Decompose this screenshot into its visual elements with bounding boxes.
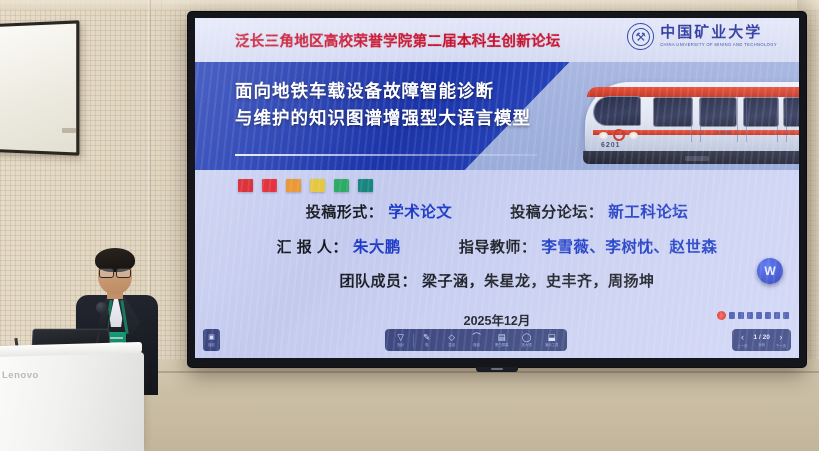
glasses-icon bbox=[99, 268, 131, 276]
submission-type-value: 学术论文 bbox=[388, 200, 452, 222]
university-logo: 中国矿业大学 CHINA UNIVERSITY OF MINING AND TE… bbox=[627, 23, 777, 50]
advisors-field: 指导教师： 李雪薇、李树忱、赵世森 bbox=[459, 235, 718, 257]
color-swatch bbox=[358, 179, 373, 192]
toolbar-tool-group: ▽ 指针 ✎ 笔 ◇ 墨迹 ⌒ bbox=[385, 329, 567, 351]
info-row-2: 汇 报 人： 朱大鹏 指导教师： 李雪薇、李树忱、赵世森 bbox=[277, 235, 718, 257]
train-access-hatch bbox=[685, 156, 709, 161]
train-car-number: 6201 bbox=[601, 142, 621, 149]
university-seal-icon bbox=[627, 23, 654, 50]
title-underline-rule bbox=[235, 154, 537, 156]
podium-brand-label: Lenovo bbox=[2, 370, 39, 381]
next-slide-button[interactable]: › 下一页 bbox=[776, 333, 786, 348]
tool-magnifier-label: 放大镜 bbox=[522, 342, 532, 347]
train-window bbox=[743, 97, 779, 127]
page-indicator-label: 页码 bbox=[758, 342, 765, 347]
tool-blackscreen-button[interactable]: ▤ 黑白屏幕 bbox=[489, 331, 514, 349]
whiteboard bbox=[0, 20, 79, 155]
display-screen: 泛长三角地区高校荣誉学院第二届本科生创新论坛 中国矿业大学 CHINA UNIV… bbox=[195, 18, 799, 358]
tool-ink-label: 墨迹 bbox=[448, 342, 455, 347]
university-name-cn: 中国矿业大学 bbox=[660, 25, 777, 40]
screen-icon: ▤ bbox=[498, 333, 506, 342]
train-headlight bbox=[599, 132, 608, 139]
presenter-field: 汇 报 人： 朱大鹏 bbox=[277, 235, 401, 257]
team-members-label: 团队成员： bbox=[339, 270, 417, 291]
presenter-tools-icon: ⬓ bbox=[548, 333, 556, 342]
team-members-field: 团队成员： 梁子涵，朱星龙，史丰齐，周扬坤 bbox=[339, 270, 654, 291]
battery-icon[interactable] bbox=[774, 312, 780, 319]
prev-slide-label: 上一页 bbox=[737, 343, 747, 348]
page-indicator-value: 1 / 20 bbox=[754, 334, 770, 341]
train-coupler-marker bbox=[613, 129, 625, 141]
chevron-right-icon: › bbox=[779, 333, 782, 342]
train-window bbox=[653, 97, 693, 127]
system-tray bbox=[717, 311, 789, 320]
lectern-podium: Lenovo bbox=[0, 352, 144, 451]
color-swatch bbox=[334, 179, 349, 192]
slide-title-band: 6201 6-0201 面向地铁车载设备故障智能诊断 与维护的知识图谱增强型大语… bbox=[195, 62, 799, 170]
play-icon: ▣ bbox=[208, 334, 215, 341]
color-swatch bbox=[238, 179, 253, 192]
university-name-block: 中国矿业大学 CHINA UNIVERSITY OF MINING AND TE… bbox=[660, 25, 777, 47]
eraser-icon: ⌒ bbox=[472, 333, 481, 342]
slide-title-line-1: 面向地铁车载设备故障智能诊断 bbox=[235, 78, 531, 105]
train-headlight bbox=[629, 132, 638, 139]
submission-type-field: 投稿形式： 学术论文 bbox=[306, 200, 453, 222]
tool-pen-button[interactable]: ✎ 笔 bbox=[414, 331, 439, 349]
toolbar-corner-button[interactable]: ▣ 播放 bbox=[203, 329, 220, 351]
next-slide-label: 下一页 bbox=[776, 343, 786, 348]
whiteboard-tray bbox=[62, 128, 76, 133]
tool-blackscreen-label: 黑白屏幕 bbox=[495, 342, 509, 347]
train-window bbox=[699, 97, 737, 127]
volume-icon[interactable] bbox=[765, 312, 771, 319]
presentation-display: 泛长三角地区高校荣誉学院第二届本科生创新论坛 中国矿业大学 CHINA UNIV… bbox=[188, 12, 806, 367]
slide-title: 面向地铁车载设备故障智能诊断 与维护的知识图谱增强型大语言模型 bbox=[235, 78, 531, 132]
tool-eraser-button[interactable]: ⌒ 橡皮 bbox=[464, 331, 489, 349]
color-swatch bbox=[262, 179, 277, 192]
tool-eraser-label: 橡皮 bbox=[473, 342, 480, 347]
tool-ink-button[interactable]: ◇ 墨迹 bbox=[439, 331, 464, 349]
train-door bbox=[737, 96, 747, 142]
sub-forum-value: 新工科论坛 bbox=[608, 200, 688, 222]
slideshow-toolbar: ▣ 播放 ▽ 指针 ✎ 笔 ◇ bbox=[203, 327, 791, 353]
tool-presenter-button[interactable]: ⬓ 演示工具 bbox=[539, 331, 564, 349]
tool-magnifier-button[interactable]: ◯ 放大镜 bbox=[514, 331, 539, 349]
toolbar-corner-button-label: 播放 bbox=[208, 342, 215, 347]
train-cab-window bbox=[593, 96, 641, 126]
tool-presenter-label: 演示工具 bbox=[545, 342, 559, 347]
train-secondary-number: 6-0201 bbox=[717, 130, 731, 135]
sub-forum-label: 投稿分论坛： bbox=[510, 201, 603, 222]
magnifier-icon: ◯ bbox=[522, 333, 532, 342]
chevron-up-icon[interactable] bbox=[783, 312, 789, 319]
team-members-value: 梁子涵，朱星龙，史丰齐，周扬坤 bbox=[422, 270, 655, 291]
notification-badge-icon[interactable] bbox=[717, 311, 726, 320]
presenter-value: 朱大鹏 bbox=[353, 235, 401, 257]
train-door bbox=[691, 96, 701, 142]
pen-icon: ✎ bbox=[423, 333, 430, 342]
metro-train-illustration: 6201 6-0201 bbox=[567, 70, 799, 166]
sub-forum-field: 投稿分论坛： 新工科论坛 bbox=[510, 200, 688, 222]
advisors-value: 李雪薇、李树忱、赵世森 bbox=[541, 235, 717, 257]
slide-title-line-2: 与维护的知识图谱增强型大语言模型 bbox=[235, 105, 531, 132]
color-swatch bbox=[310, 179, 325, 192]
wps-floating-button-label: W bbox=[764, 264, 775, 278]
ink-icon: ◇ bbox=[448, 333, 455, 342]
toolbar-navigation-group: ‹ 上一页 1 / 20 页码 › 下一页 bbox=[732, 329, 791, 351]
ime-icon[interactable] bbox=[729, 312, 735, 319]
info-row-1: 投稿形式： 学术论文 投稿分论坛： 新工科论坛 bbox=[306, 200, 689, 222]
wps-floating-button[interactable]: W bbox=[757, 258, 783, 284]
conference-room-scene: 泛长三角地区高校荣誉学院第二届本科生创新论坛 中国矿业大学 CHINA UNIV… bbox=[0, 0, 819, 451]
submission-type-label: 投稿形式： bbox=[306, 201, 384, 222]
page-indicator[interactable]: 1 / 20 页码 bbox=[754, 334, 770, 347]
slide-header: 泛长三角地区高校荣誉学院第二届本科生创新论坛 中国矿业大学 CHINA UNIV… bbox=[195, 18, 799, 62]
color-swatch-row bbox=[238, 179, 373, 192]
slide-info-block: 投稿形式： 学术论文 投稿分论坛： 新工科论坛 汇 报 人： 朱大鹏 bbox=[195, 200, 799, 329]
pointer-icon: ▽ bbox=[397, 333, 404, 342]
university-name-en: CHINA UNIVERSITY OF MINING AND TECHNOLOG… bbox=[660, 43, 777, 47]
network-icon[interactable] bbox=[756, 312, 762, 319]
microphone-head bbox=[96, 302, 107, 313]
presentation-slide: 泛长三角地区高校荣誉学院第二届本科生创新论坛 中国矿业大学 CHINA UNIV… bbox=[195, 18, 799, 358]
presenter-label: 汇 报 人： bbox=[277, 236, 348, 257]
display-power-led bbox=[491, 368, 503, 370]
advisors-label: 指导教师： bbox=[459, 236, 537, 257]
tray-icon[interactable] bbox=[738, 312, 744, 319]
ceiling-band bbox=[0, 0, 819, 10]
tool-pen-label: 笔 bbox=[425, 342, 428, 347]
tray-icon[interactable] bbox=[747, 312, 753, 319]
tool-pointer-button[interactable]: ▽ 指针 bbox=[388, 331, 413, 349]
forum-title: 泛长三角地区高校荣誉学院第二届本科生创新论坛 bbox=[235, 30, 561, 51]
chevron-left-icon: ‹ bbox=[741, 333, 744, 342]
prev-slide-button[interactable]: ‹ 上一页 bbox=[737, 333, 747, 348]
color-swatch bbox=[286, 179, 301, 192]
train-door bbox=[777, 96, 787, 142]
tool-pointer-label: 指针 bbox=[397, 342, 404, 347]
